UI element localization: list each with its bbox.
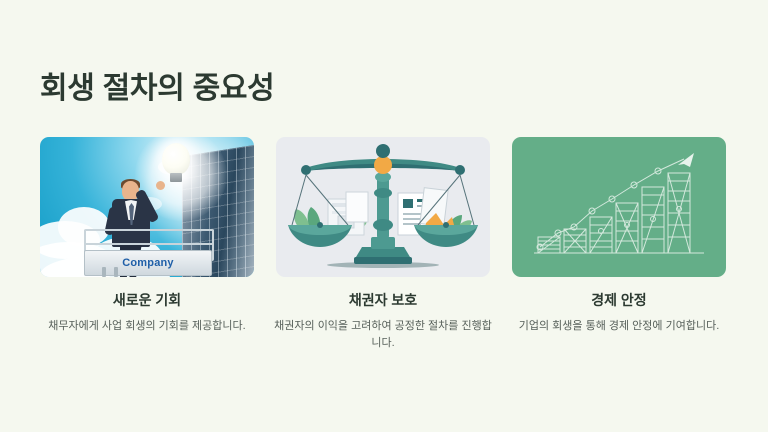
scale-svg [276,137,490,277]
card-economic-stability[interactable]: 경제 안정 기업의 회생을 통해 경제 안정에 기여합니다. [512,137,726,352]
company-sign-label: Company [122,257,174,269]
growth-chart-svg [512,137,726,277]
card-grid: Company 새로운 기회 채무자에게 사업 회생의 기회를 제공합니다. [40,137,728,352]
lightbulb-icon [162,143,190,175]
scale-base [354,257,412,264]
page-title: 회생 절차의 중요성 [40,71,274,107]
platform-support [102,267,106,277]
balance-scale-illustration [276,137,490,277]
card-description: 채권자의 이익을 고려하여 공정한 절차를 진행합니다. [274,318,492,352]
card-description: 기업의 회생을 통해 경제 안정에 기여합니다. [510,318,728,335]
card-description: 채무자에게 사업 회생의 기회를 제공합니다. [38,318,256,335]
card-new-opportunity[interactable]: Company 새로운 기회 채무자에게 사업 회생의 기회를 제공합니다. [40,137,254,352]
bar-2 [564,229,586,253]
trend-arrow-icon [678,153,694,167]
businessman-with-lightbulb-photo: Company [40,137,254,277]
scale-finial [376,144,390,158]
card-title: 경제 안정 [591,291,646,309]
bar-6 [668,173,690,253]
card-title: 채권자 보호 [349,291,417,309]
scale-center-knob [374,156,392,174]
platform-support [114,267,118,277]
card-title: 새로운 기회 [113,291,181,309]
slide-root: 회생 절차의 중요성 [0,0,768,432]
growth-chart-illustration [512,137,726,277]
figure-hand [156,181,165,190]
bar-4 [616,203,638,253]
bar-3 [590,217,612,253]
bar-5 [642,187,664,253]
card-creditor-protection[interactable]: 채권자 보호 채권자의 이익을 고려하여 공정한 절차를 진행합니다. [276,137,490,352]
